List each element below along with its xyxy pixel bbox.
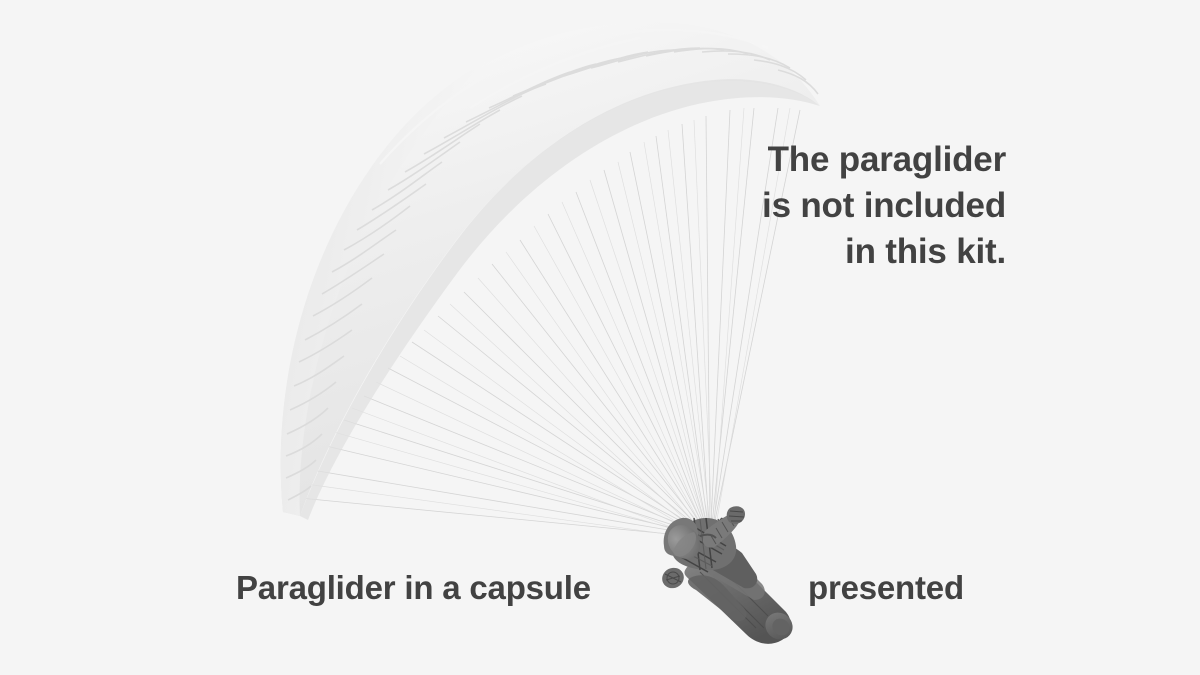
screenshot-canvas: The paraglider is not included in this k… [0, 0, 1200, 675]
caption-right-text: presented [808, 568, 964, 608]
notice-line-3: in this kit. [762, 229, 1006, 275]
caption-left-text: Paraglider in a capsule [236, 568, 591, 608]
pilot-in-capsule-harness [659, 506, 798, 645]
notice-text-block: The paraglider is not included in this k… [762, 137, 1006, 275]
paraglider-illustration [0, 0, 1200, 675]
paraglider-canopy [281, 22, 820, 520]
notice-line-2: is not included [762, 183, 1006, 229]
notice-line-1: The paraglider [762, 137, 1006, 183]
